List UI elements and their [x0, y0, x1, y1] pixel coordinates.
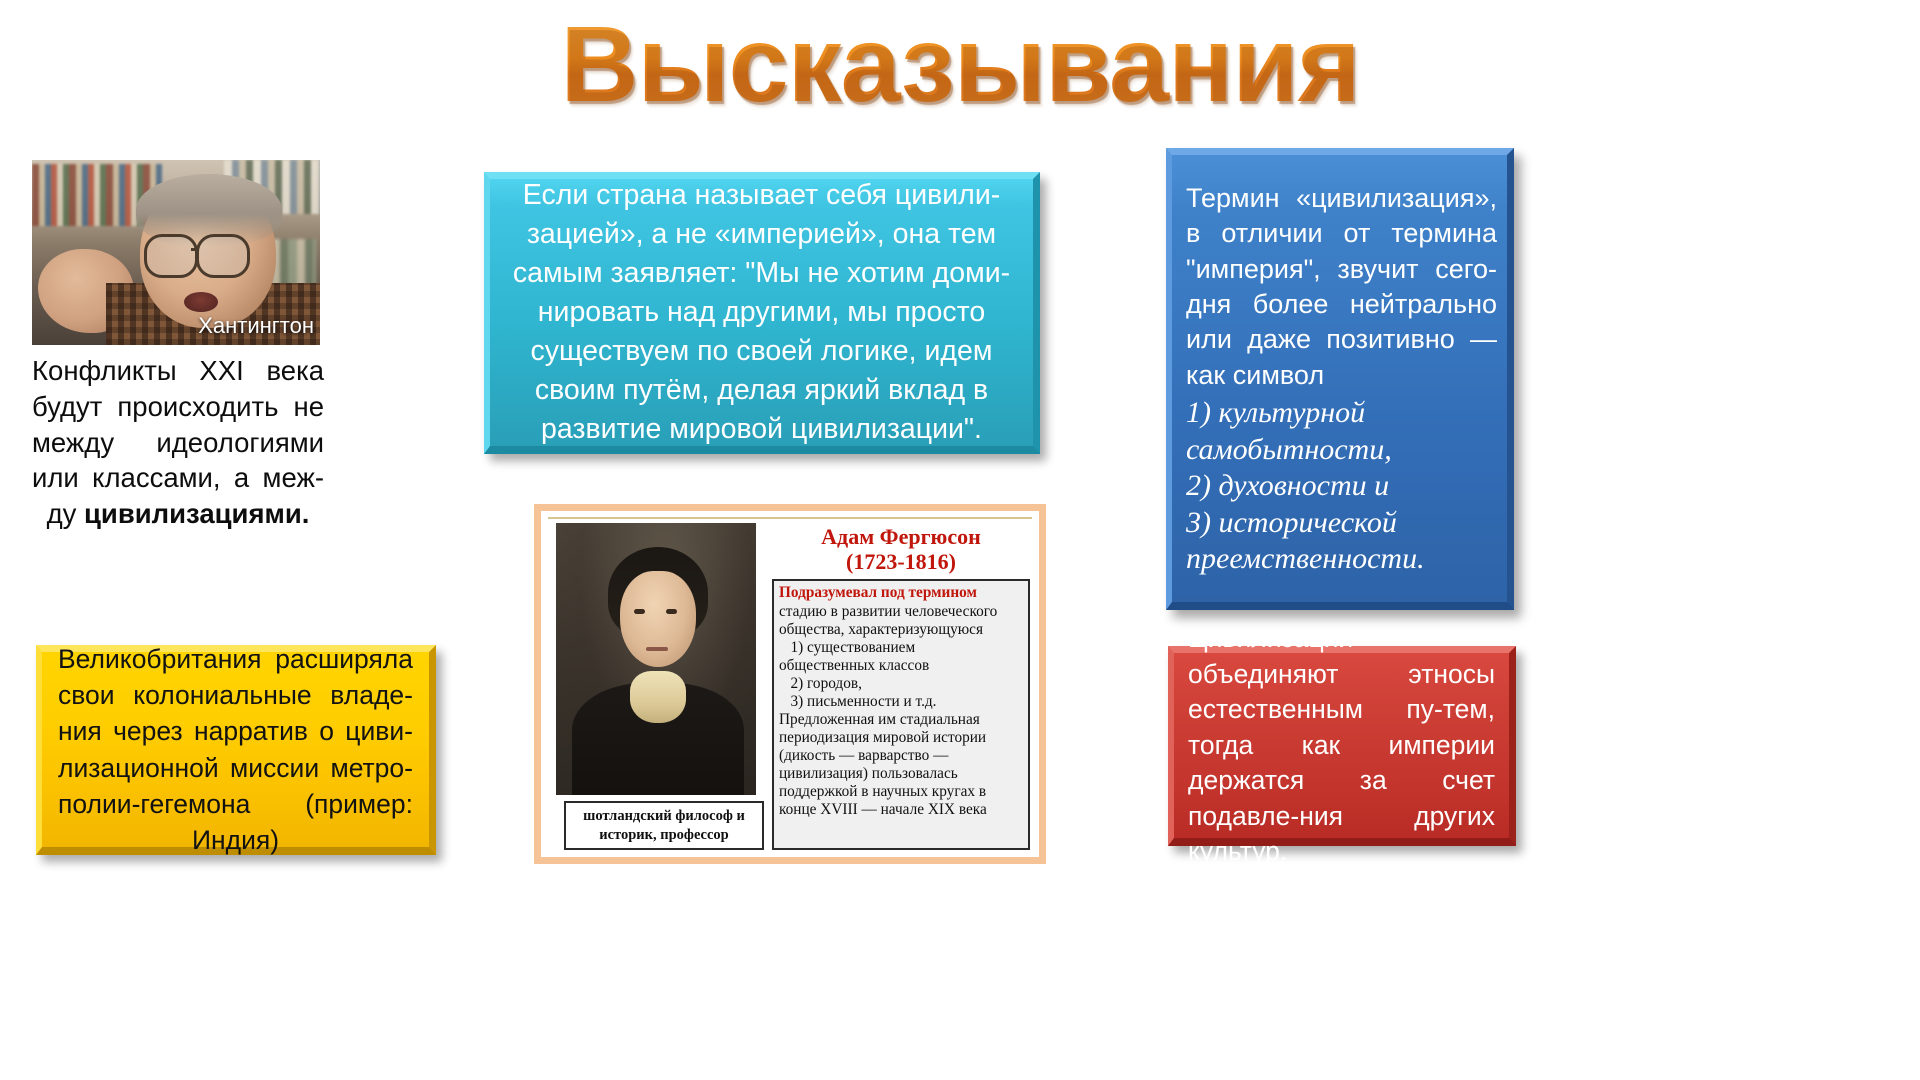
eye-right-shape — [666, 609, 677, 614]
ferguson-body-line: общественных классов — [779, 657, 1023, 675]
huntington-quote-text: Конфликты XXI века будут происходить не … — [32, 353, 324, 532]
list-item: 2) духовности и — [1186, 468, 1499, 505]
ferguson-years: (1723-1816) — [772, 550, 1030, 575]
blue-box-paragraph: Термин «цивилизация», в отличии от терми… — [1172, 179, 1507, 395]
red-civilizations-box: Цивилизации объединяют этносы естественн… — [1168, 646, 1516, 846]
mouth-shape — [646, 647, 668, 651]
ferguson-body-line: 3) письменности и т.д. — [779, 693, 1023, 711]
cyan-quote-text: Если страна называет себя цивили-зацией»… — [490, 172, 1033, 453]
blue-box-list: 1) культурной самобытности, 2) духовност… — [1172, 395, 1507, 578]
ferguson-body-line: общества, характеризующуюся — [779, 621, 1023, 639]
ferguson-role-caption: шотландский философ и историк, профессор — [564, 801, 764, 850]
eye-left-shape — [634, 609, 645, 614]
huntington-quote-bold: цивилизациями. — [84, 498, 309, 529]
glasses-right-lens-icon — [196, 234, 250, 278]
ferguson-body-line: конце XVIII — начале XIX века — [779, 801, 1023, 819]
face-shape — [620, 571, 696, 667]
ferguson-body-line: Предложенная им стадиальная — [779, 711, 1023, 729]
ferguson-body-heading: Подразумевал под термином — [779, 584, 1023, 602]
huntington-photo: Хантингтон — [32, 160, 320, 345]
ferguson-body-line: (дикость — варварство — — [779, 747, 1023, 765]
blue-term-box: Термин «цивилизация», в отличии от терми… — [1166, 148, 1514, 610]
list-item: 3) исторической преемственности. — [1186, 505, 1499, 578]
page-title: Высказывания — [0, 10, 1920, 118]
cyan-quote-box: Если страна называет себя цивили-зацией»… — [484, 172, 1040, 454]
ferguson-body-line: 1) существованием — [779, 639, 1023, 657]
mouth-shape — [184, 292, 218, 312]
red-box-text: Цивилизации объединяют этносы естественн… — [1174, 619, 1509, 872]
ferguson-right-column: Адам Фергюсон (1723-1816) Подразумевал п… — [772, 523, 1032, 850]
ferguson-body-line: периодизация мировой истории — [779, 729, 1023, 747]
ferguson-body-line: стадию в развитии человеческого — [779, 603, 1023, 621]
yellow-box-text: Великобритания расширяла свои колониальн… — [42, 639, 429, 859]
list-item: 1) культурной самобытности, — [1186, 395, 1499, 468]
portrait-caption-label: Хантингтон — [198, 313, 314, 339]
ferguson-portrait — [556, 523, 756, 795]
ferguson-name-title: Адам Фергюсон — [772, 525, 1030, 550]
ferguson-left-column: шотландский философ и историк, профессор — [548, 523, 764, 850]
ferguson-body-line: 2) городов, — [779, 675, 1023, 693]
ferguson-body-lines: стадию в развитии человеческогообщества,… — [779, 603, 1023, 819]
ferguson-card: шотландский философ и историк, профессор… — [534, 504, 1046, 864]
glasses-left-lens-icon — [144, 234, 198, 278]
ferguson-body-line: цивилизация) пользовалась — [779, 765, 1023, 783]
huntington-portrait-block: Хантингтон Конфликты XXI века будут прои… — [32, 160, 320, 532]
glasses-bridge-icon — [191, 248, 199, 251]
ferguson-caption-line-1: шотландский философ и — [583, 808, 745, 824]
ferguson-caption-line-2: историк, профессор — [599, 827, 729, 843]
ferguson-body-line: поддержкой в научных кругах в — [779, 783, 1023, 801]
cravat-shape — [630, 671, 686, 723]
yellow-britain-box: Великобритания расширяла свои колониальн… — [36, 645, 436, 855]
ferguson-definition-body: Подразумевал под термином стадию в разви… — [772, 579, 1030, 850]
